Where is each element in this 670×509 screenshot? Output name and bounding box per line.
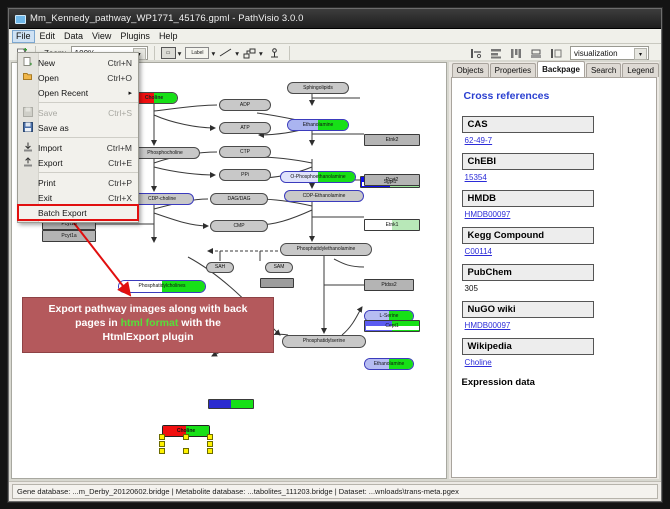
xref-name: HMDB xyxy=(462,190,594,207)
chevron-down-icon-shape[interactable]: ▾ xyxy=(178,49,182,58)
node-methyltransferase[interactable] xyxy=(208,399,254,409)
node-dag[interactable]: DAG/DAG xyxy=(210,193,268,205)
xref-name: PubChem xyxy=(462,264,594,281)
menu-separator-3 xyxy=(39,172,138,173)
menu-item-label: Exit xyxy=(38,193,108,203)
node-label: SAH xyxy=(215,265,225,270)
node-label: CTP xyxy=(240,150,250,155)
node-label: Choline xyxy=(177,429,195,434)
node-phosphocholine[interactable]: Phosphocholine xyxy=(130,147,200,159)
visualization-combobox[interactable]: visualization ▾ xyxy=(570,46,649,60)
menu-item-save: Save Ctrl+S xyxy=(18,105,138,120)
node-label: Cept1 xyxy=(385,324,398,329)
pathvisio-icon xyxy=(14,13,25,24)
tab-search[interactable]: Search xyxy=(586,63,621,77)
node-label: Etnk2 xyxy=(386,138,399,143)
anchor-icon[interactable] xyxy=(267,45,283,61)
node-phosphatidylserine[interactable]: Phosphatidylserine xyxy=(282,335,366,348)
callout-line-3: HtmlExport plugin xyxy=(29,330,267,344)
expression-data-heading: Expression data xyxy=(462,377,646,388)
node-label: Ethanolamine xyxy=(303,123,334,128)
node-phosphatidylcholines[interactable]: Phosphatidylcholines xyxy=(118,280,206,293)
node-label: Ptdss2 xyxy=(381,283,396,288)
node-label: L-Serine xyxy=(380,314,399,319)
node-ethanolamine-1[interactable]: Ethanolamine xyxy=(287,119,349,131)
menu-plugins[interactable]: Plugins xyxy=(116,30,154,43)
interaction-icon xyxy=(243,48,257,59)
pathvisio-window: Mm_Kennedy_pathway_WP1771_45176.gpml - P… xyxy=(8,8,662,502)
xref-group-kegg: Kegg Compound C00114 xyxy=(462,227,646,256)
save-icon xyxy=(18,107,38,119)
menu-file[interactable]: File xyxy=(12,30,35,43)
interaction-tool[interactable]: ▾ xyxy=(243,48,263,59)
xref-name: NuGO wiki xyxy=(462,301,594,318)
xref-link[interactable]: 62-49-7 xyxy=(465,136,646,145)
node-label: Phosphocholine xyxy=(147,151,183,156)
screenshot-root: Mm_Kennedy_pathway_WP1771_45176.gpml - P… xyxy=(0,0,670,509)
stack-icon[interactable] xyxy=(528,45,544,61)
chevron-down-icon-label[interactable]: ▾ xyxy=(211,49,215,58)
xref-value: 305 xyxy=(465,284,646,293)
node-cdp-ethanolamine[interactable]: CDP-Ethanolamine xyxy=(284,190,364,202)
menu-item-label: Batch Export xyxy=(38,208,132,218)
node-label: Phosphatidylethanolamine xyxy=(297,247,356,252)
menu-item-accel: Ctrl+S xyxy=(108,108,138,118)
window-title-bar: Mm_Kennedy_pathway_WP1771_45176.gpml - P… xyxy=(9,9,661,29)
node-etnk1[interactable]: Etnk1 xyxy=(364,219,420,231)
xref-name: CAS xyxy=(462,116,594,133)
align-rows-icon[interactable] xyxy=(488,45,504,61)
tab-backpage[interactable]: Backpage xyxy=(537,61,585,77)
node-label: ADP xyxy=(240,103,250,108)
node-cdp-choline[interactable]: CDP-choline xyxy=(130,193,194,205)
import-icon xyxy=(18,142,38,154)
node-etnk2[interactable]: Etnk2 xyxy=(364,134,420,146)
file-menu-dropdown[interactable]: New Ctrl+N Open Ctrl+O Open Recent ▸ xyxy=(17,52,139,223)
callout-line-1: Export pathway images along with back xyxy=(29,302,267,316)
node-label: O-Phosphoethanolamine xyxy=(290,175,345,180)
node-o-phosphoethanolamine[interactable]: O-Phosphoethanolamine xyxy=(280,171,356,183)
node-cmp[interactable]: CMP xyxy=(210,220,268,232)
node-ctp[interactable]: CTP xyxy=(219,146,271,158)
node-label: Etnk1 xyxy=(386,223,399,228)
node-label: Sphingolipids xyxy=(303,86,333,91)
menu-item-batch-export[interactable]: Batch Export xyxy=(18,205,138,220)
visualization-value: visualization xyxy=(574,49,618,58)
menu-view[interactable]: View xyxy=(88,30,115,43)
menu-separator-2 xyxy=(39,137,138,138)
node-label: Phosphatidylcholines xyxy=(139,284,186,289)
node-label: Ethanolamine xyxy=(374,362,405,367)
menu-item-import[interactable]: Import Ctrl+M xyxy=(18,140,138,155)
export-icon xyxy=(18,157,38,169)
node-sphingolipids[interactable]: Sphingolipids xyxy=(287,82,349,94)
xref-group-wikipedia: Wikipedia Choline xyxy=(462,338,646,367)
xref-group-nugo: NuGO wiki HMDB00097 xyxy=(462,301,646,330)
shape-icon: ▭ xyxy=(161,47,176,59)
line-icon xyxy=(219,48,233,58)
callout-line-2a: pages in xyxy=(75,317,121,329)
node-unnamed-gene[interactable] xyxy=(260,278,294,288)
callout-line-2: pages in html format with the xyxy=(29,316,267,330)
cross-references-heading: Cross references xyxy=(464,90,646,102)
menu-item-print[interactable]: Print Ctrl+P xyxy=(18,175,138,190)
node-label: ATP xyxy=(240,126,249,131)
xref-group-cas: CAS 62-49-7 xyxy=(462,116,646,145)
node-atp[interactable]: ATP xyxy=(219,122,271,134)
node-label: CDP-choline xyxy=(148,197,176,202)
chevron-down-icon-line[interactable]: ▾ xyxy=(235,49,239,58)
menu-item-label: Import xyxy=(38,143,107,153)
menu-item-open[interactable]: Open Ctrl+O xyxy=(18,70,138,85)
menu-data[interactable]: Data xyxy=(60,30,87,43)
xref-name: Kegg Compound xyxy=(462,227,594,244)
menu-item-open-recent[interactable]: Open Recent ▸ xyxy=(18,85,138,100)
menu-bar: File Edit Data View Plugins Help xyxy=(9,29,661,44)
align-columns-icon[interactable] xyxy=(508,45,524,61)
menu-item-accel: Ctrl+P xyxy=(108,178,138,188)
menu-item-label: Print xyxy=(38,178,108,188)
xref-name: Wikipedia xyxy=(462,338,594,355)
menu-item-label: Open xyxy=(38,73,107,83)
xref-link[interactable]: HMDB00097 xyxy=(465,321,646,330)
menu-item-label: New xyxy=(38,58,108,68)
side-panel: Objects Properties Backpage Search Legen… xyxy=(449,62,659,479)
label-tool[interactable]: Label ▾ xyxy=(185,47,215,59)
side-panel-tabs: Objects Properties Backpage Search Legen… xyxy=(449,62,659,77)
menu-item-label: Save as xyxy=(38,123,132,133)
chevron-down-icon-visualization[interactable]: ▾ xyxy=(634,48,647,60)
menu-edit[interactable]: Edit xyxy=(36,30,60,43)
menu-item-export[interactable]: Export Ctrl+E xyxy=(18,155,138,170)
status-bar: Gene database: ...m_Derby_20120602.bridg… xyxy=(9,481,661,501)
backpage-content[interactable]: Cross references CAS 62-49-7 ChEBI 15354… xyxy=(451,77,657,478)
node-cept1[interactable]: Cept1 xyxy=(364,320,420,332)
callout-highlight: html format xyxy=(121,317,179,329)
xref-name: ChEBI xyxy=(462,153,594,170)
xref-link[interactable]: C00114 xyxy=(465,247,646,256)
menu-item-save-as[interactable]: Save as xyxy=(18,120,138,135)
node-label: Choline xyxy=(145,96,163,101)
node-label: Pcyt2 xyxy=(386,178,399,183)
node-label: CMP xyxy=(233,224,244,229)
xref-link[interactable]: HMDB00097 xyxy=(465,210,646,219)
callout-banner: Export pathway images along with back pa… xyxy=(22,297,274,353)
node-ethanolamine-2[interactable]: Ethanolamine xyxy=(364,358,414,370)
tab-properties[interactable]: Properties xyxy=(490,63,536,77)
xref-group-hmdb: HMDB HMDB00097 xyxy=(462,190,646,219)
toolbar-separator-3 xyxy=(289,46,290,60)
node-ptdss2[interactable]: Ptdss2 xyxy=(364,279,414,291)
node-ppi[interactable]: PPi xyxy=(219,169,271,181)
node-pcyt1a[interactable]: Pcyt1a xyxy=(42,230,96,242)
menu-separator xyxy=(39,102,138,103)
submenu-arrow-icon: ▸ xyxy=(128,89,138,97)
chevron-down-icon-interaction[interactable]: ▾ xyxy=(259,49,263,58)
menu-item-exit[interactable]: Exit Ctrl+X xyxy=(18,190,138,205)
group-icon[interactable] xyxy=(548,45,564,61)
line-tool[interactable]: ▾ xyxy=(219,48,239,58)
xref-group-chebi: ChEBI 15354 xyxy=(462,153,646,182)
xref-group-pubchem: PubChem 305 xyxy=(462,264,646,293)
menu-item-accel: Ctrl+E xyxy=(108,158,138,168)
menu-help[interactable]: Help xyxy=(155,30,182,43)
shape-tool[interactable]: ▭ ▾ xyxy=(161,47,182,59)
menu-item-accel: Ctrl+M xyxy=(107,143,138,153)
menu-item-label: Export xyxy=(38,158,108,168)
node-sam[interactable]: SAM xyxy=(265,262,293,273)
node-phosphatidylethanolamine[interactable]: Phosphatidylethanolamine xyxy=(280,243,372,256)
menu-item-accel: Ctrl+X xyxy=(108,193,138,203)
save-as-icon xyxy=(18,122,38,134)
menu-item-accel: Ctrl+N xyxy=(108,58,138,68)
folder-open-icon xyxy=(18,72,38,83)
window-title: Mm_Kennedy_pathway_WP1771_45176.gpml - P… xyxy=(30,13,304,24)
toolbar-separator-2 xyxy=(154,46,155,60)
node-label: DAG/DAG xyxy=(227,197,250,202)
status-text: Gene database: ...m_Derby_20120602.bridg… xyxy=(12,484,658,499)
label-icon: Label xyxy=(185,47,209,59)
xref-link[interactable]: 15354 xyxy=(465,173,646,182)
align-left-icon[interactable] xyxy=(468,45,484,61)
node-label: CDP-Ethanolamine xyxy=(303,194,346,199)
node-label: Pcyt1a xyxy=(61,234,76,239)
node-label: Phosphatidylserine xyxy=(303,339,345,344)
node-adp[interactable]: ADP xyxy=(219,99,271,111)
menu-item-accel: Ctrl+O xyxy=(107,73,138,83)
node-label: SAM xyxy=(274,265,285,270)
xref-link[interactable]: Choline xyxy=(465,358,646,367)
menu-item-new[interactable]: New Ctrl+N xyxy=(18,55,138,70)
node-sah[interactable]: SAH xyxy=(206,262,234,273)
menu-item-label: Open Recent xyxy=(38,88,128,98)
callout-line-2b: with the xyxy=(178,317,221,329)
menu-item-label: Save xyxy=(38,108,108,118)
tab-legend[interactable]: Legend xyxy=(622,63,659,77)
new-document-icon xyxy=(18,57,38,69)
tab-objects[interactable]: Objects xyxy=(452,63,489,77)
node-label: PPi xyxy=(241,173,249,178)
